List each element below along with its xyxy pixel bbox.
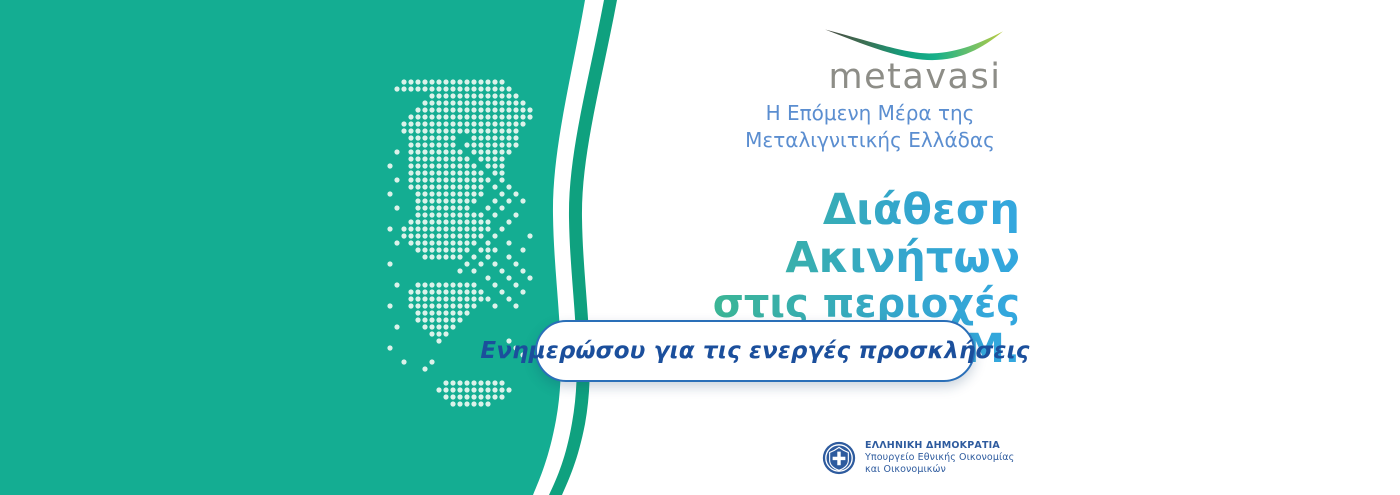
government-logo: ΕΛΛΗΝΙΚΗ ΔΗΜΟΚΡΑΤΙΑ Υπουργείο Εθνικής Οι… [822, 440, 1014, 476]
cta-label: Ενημερώσου για τις ενεργές προσκλήσεις [480, 338, 1029, 364]
tagline: Η Επόμενη Μέρα της Μεταλιγνιτικής Ελλάδα… [720, 100, 1020, 154]
gov-line-1: ΕΛΛΗΝΙΚΗ ΔΗΜΟΚΡΑΤΙΑ [865, 440, 1014, 452]
wave-swoosh-icon [817, 18, 1013, 62]
active-invitations-button[interactable]: Ενημερώσου για τις ενεργές προσκλήσεις [535, 320, 975, 382]
gov-line-2: Υπουργείο Εθνικής Οικονομίας [865, 452, 1014, 464]
promo-banner: metavasi Η Επόμενη Μέρα της Μεταλιγνιτικ… [0, 0, 1400, 495]
tagline-line-2: Μεταλιγνιτικής Ελλάδας [720, 127, 1020, 154]
tagline-line-1: Η Επόμενη Μέρα της [720, 100, 1020, 127]
content-column: metavasi Η Επόμενη Μέρα της Μεταλιγνιτικ… [600, 0, 1400, 495]
headline-line-1: Διάθεση Ακινήτων [600, 186, 1020, 282]
teal-body [0, 0, 585, 495]
wavy-panel-shape [0, 0, 640, 495]
government-text: ΕΛΛΗΝΙΚΗ ΔΗΜΟΚΡΑΤΙΑ Υπουργείο Εθνικής Οι… [865, 440, 1014, 476]
teal-side-panel [0, 0, 640, 495]
greek-coat-of-arms-icon [822, 441, 856, 475]
metavasi-logo[interactable]: metavasi [810, 18, 1020, 95]
metavasi-wordmark: metavasi [810, 60, 1020, 95]
gov-line-3: και Οικονομικών [865, 464, 1014, 476]
